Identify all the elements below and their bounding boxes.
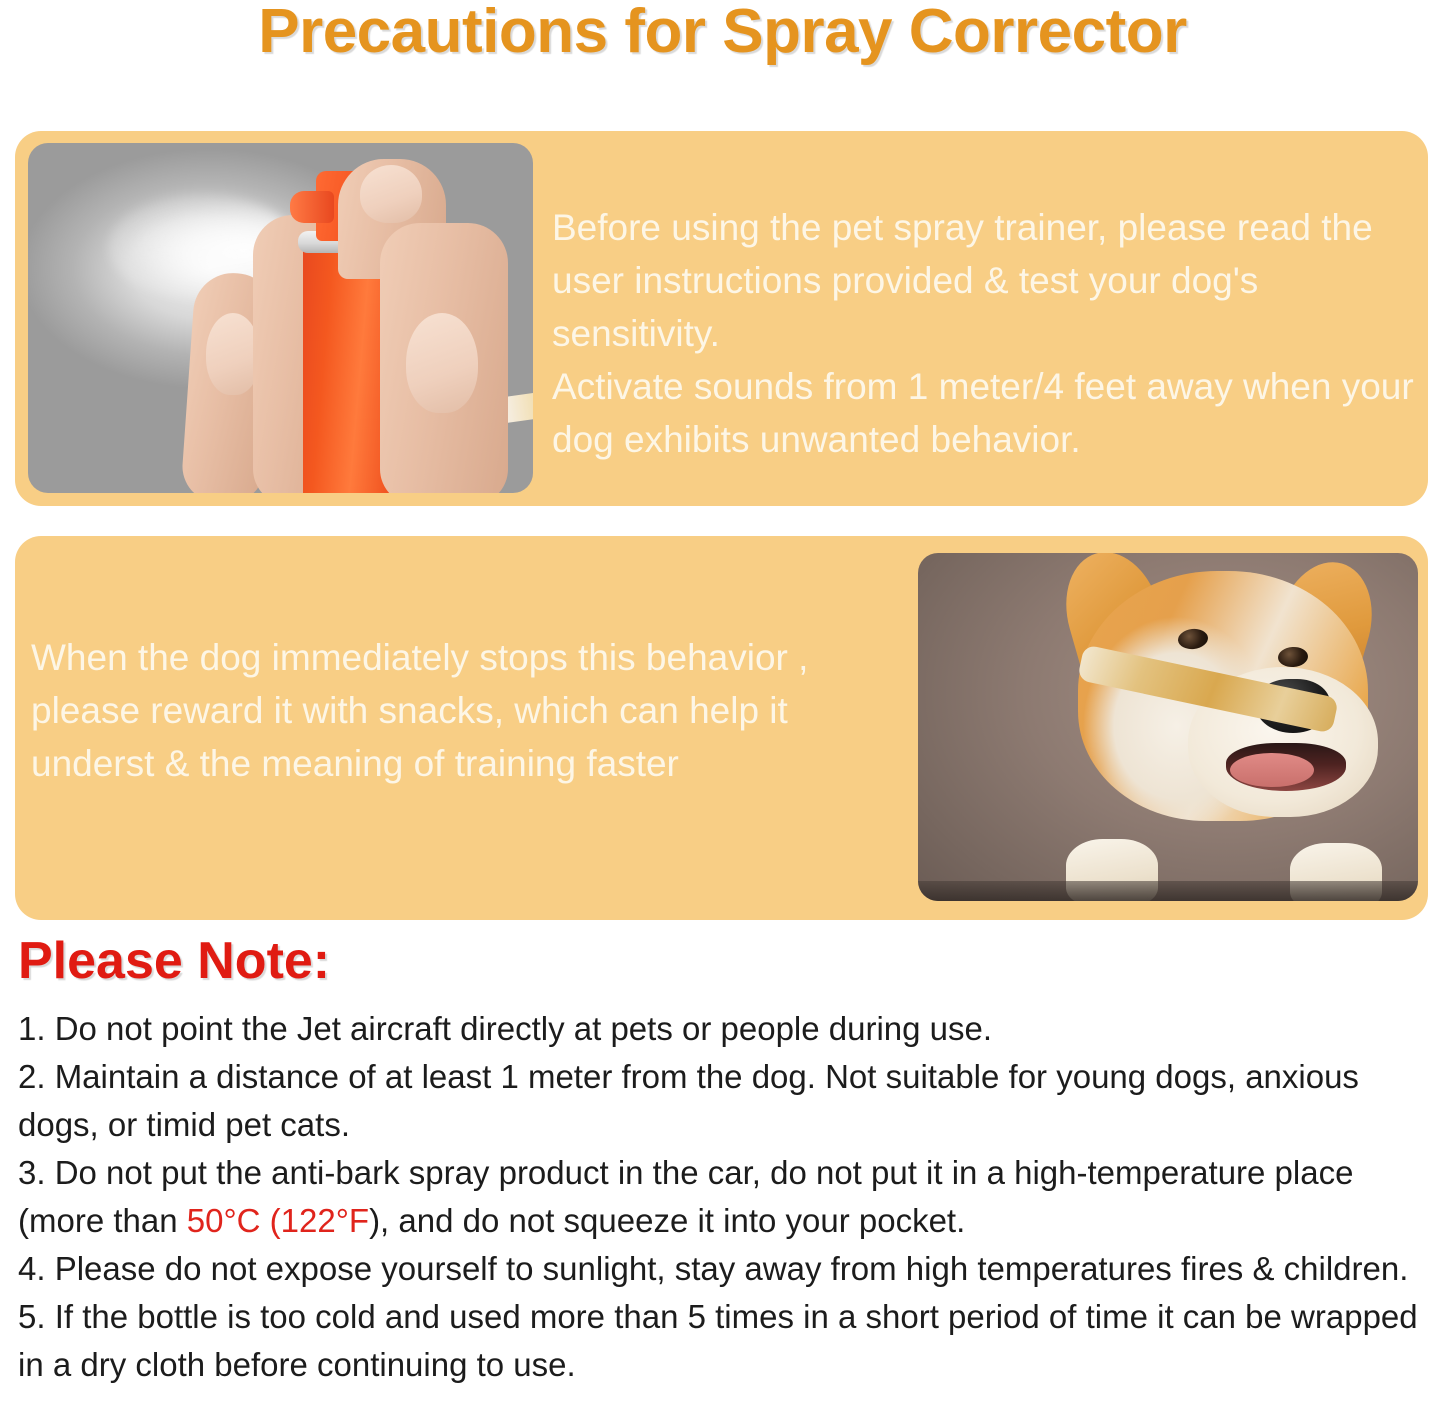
page-title: Precautions for Spray Corrector bbox=[0, 0, 1445, 67]
dog-illustration bbox=[1038, 553, 1418, 901]
please-note-heading: Please Note: bbox=[18, 931, 330, 991]
note-item-2: 2. Maintain a distance of at least 1 met… bbox=[18, 1053, 1430, 1149]
card-one-text: Before using the pet spray trainer, plea… bbox=[552, 201, 1422, 466]
spray-can-spout bbox=[290, 191, 334, 223]
note-item-3: 3. Do not put the anti-bark spray produc… bbox=[18, 1149, 1430, 1245]
precaution-card-one: Before using the pet spray trainer, plea… bbox=[15, 131, 1428, 506]
note-item-3-suffix: ), and do not squeeze it into your pocke… bbox=[369, 1202, 965, 1239]
hand-holding-orange-spray-can-photo bbox=[28, 143, 533, 493]
fingernail bbox=[360, 165, 422, 223]
note-item-5: 5. If the bottle is too cold and used mo… bbox=[18, 1293, 1430, 1389]
fingernail bbox=[406, 313, 478, 413]
note-item-1: 1. Do not point the Jet aircraft directl… bbox=[18, 1005, 1430, 1053]
please-note-list: 1. Do not point the Jet aircraft directl… bbox=[18, 1005, 1430, 1389]
card-two-text: When the dog immediately stops this beha… bbox=[31, 631, 901, 790]
note-item-4: 4. Please do not expose yourself to sunl… bbox=[18, 1245, 1430, 1293]
temperature-highlight: 50°C (122°F bbox=[187, 1202, 369, 1239]
dog-tongue bbox=[1230, 753, 1314, 787]
fingernail bbox=[206, 313, 260, 395]
hand-illustration bbox=[168, 153, 508, 493]
corgi-chewing-treat-photo bbox=[918, 553, 1418, 901]
precaution-card-two: When the dog immediately stops this beha… bbox=[15, 536, 1428, 920]
dog-eye bbox=[1277, 646, 1308, 668]
studio-floor bbox=[918, 881, 1418, 901]
dog-eye bbox=[1177, 627, 1209, 650]
